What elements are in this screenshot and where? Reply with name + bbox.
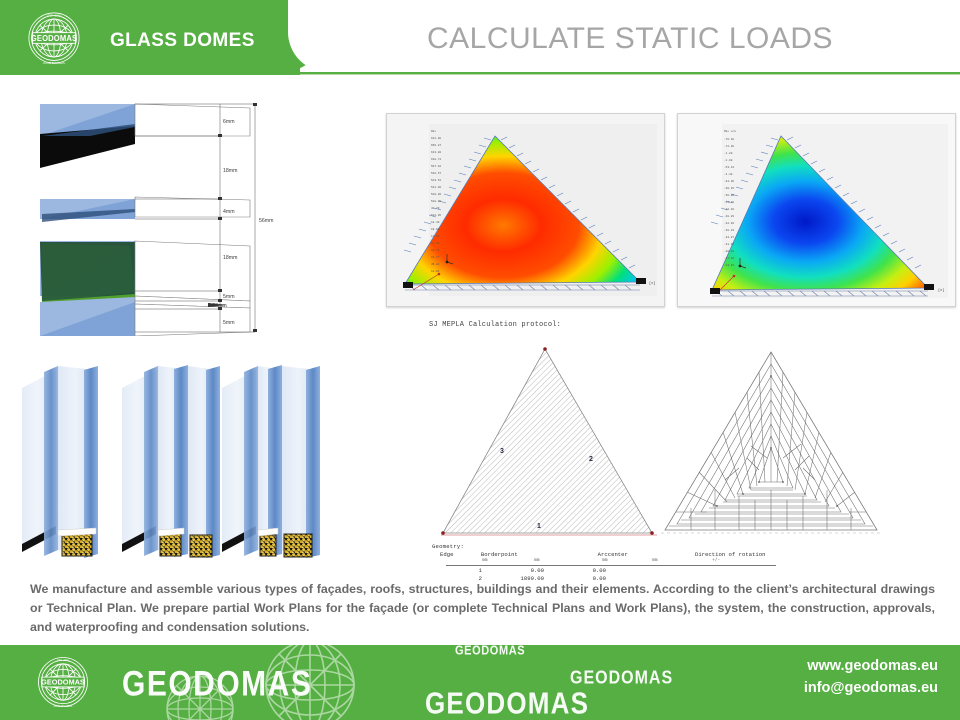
svg-text:11.09: 11.09 <box>431 235 440 238</box>
unit-mm-2: mm <box>534 558 602 564</box>
col-edge: Edge <box>440 551 481 559</box>
svg-text:45.84: 45.84 <box>431 263 440 266</box>
svg-text:-28.48: -28.48 <box>724 250 734 253</box>
svg-text:0.38mm: 0.38mm <box>208 303 227 309</box>
svg-text:-27.16: -27.16 <box>724 257 734 260</box>
svg-text:· EST · 2014 ·: · EST · 2014 · <box>46 14 62 18</box>
geodomas-seal-logo: GEODOMAS · EST · 2014 · · DOME BUILDERS … <box>16 9 92 67</box>
svg-text:11.04: 11.04 <box>431 270 440 273</box>
stress-contour-triangular-panel: Max 101.98656.87 613.80618.74 567.62532.… <box>386 113 665 307</box>
svg-text:-1.29: -1.29 <box>724 152 733 155</box>
glass-unit-double <box>22 366 98 558</box>
body-paragraph: We manufacture and assemble various type… <box>30 580 935 638</box>
unit-mm-4: mm <box>652 558 712 564</box>
row1-bp-y: 0.00 <box>544 567 606 575</box>
svg-text:Max: Max <box>431 130 436 133</box>
svg-text:618.74: 618.74 <box>431 158 441 161</box>
svg-text:16.77: 16.77 <box>431 256 440 259</box>
svg-text:656.87: 656.87 <box>431 144 441 147</box>
unit-mm-3: mm <box>602 558 652 564</box>
svg-text:· EST · 2014 ·: · EST · 2014 · <box>56 660 70 662</box>
svg-text:-38.23: -38.23 <box>724 229 734 232</box>
svg-text:613.80: 613.80 <box>431 151 441 154</box>
svg-text:513.51: 513.51 <box>431 179 441 182</box>
seal-logo-text: GEODOMAS <box>31 34 77 43</box>
svg-text:41.79: 41.79 <box>431 207 440 210</box>
glass-unit-triple <box>122 365 220 558</box>
svg-text:[x]: [x] <box>938 288 944 293</box>
svg-text:4mm: 4mm <box>223 209 235 215</box>
svg-text:612.05: 612.05 <box>431 214 441 217</box>
footer-email-link[interactable]: info@geodomas.eu <box>804 678 938 700</box>
svg-text:1: 1 <box>537 523 541 530</box>
svg-text:2: 2 <box>589 456 593 463</box>
svg-text:3: 3 <box>500 448 504 455</box>
svg-text:Max u/m: Max u/m <box>724 129 736 133</box>
sign-label: +/- <box>712 558 720 564</box>
slide-root: GEODOMAS · EST · 2014 · · DOME BUILDERS … <box>0 0 960 720</box>
svg-text:· DOME BUILDERS ·: · DOME BUILDERS · <box>42 61 67 65</box>
footer-watermark-1: GEODOMAS <box>455 644 525 658</box>
col-borderpoint: Borderpoint <box>481 551 598 559</box>
svg-text:-2.48: -2.48 <box>724 173 733 176</box>
deflection-contour-triangular-panel: Max u/m -76.48-72.88 -1.29-1.98 -53.44-2… <box>677 113 956 307</box>
svg-text:5mm: 5mm <box>223 320 235 326</box>
svg-text:19.98: 19.98 <box>431 228 440 231</box>
mepla-geometry-triangle: 1 2 3 <box>437 337 669 542</box>
finite-element-mesh-triangle <box>655 340 887 540</box>
svg-text:18mm: 18mm <box>223 168 237 174</box>
footer-watermark-3: GEODOMAS <box>425 685 589 720</box>
geometry-table-header: Edge Borderpoint Arccenter Direction of … <box>432 551 802 559</box>
svg-text:5mm: 5mm <box>223 294 235 300</box>
geometry-table: Geometry: Edge Borderpoint Arccenter Dir… <box>432 543 802 582</box>
col-arccenter: Arccenter <box>598 551 695 559</box>
svg-text:18mm: 18mm <box>223 255 237 261</box>
svg-text:532.57: 532.57 <box>431 172 441 175</box>
col-direction: Direction of rotation <box>695 551 802 559</box>
svg-text:567.62: 567.62 <box>431 165 441 168</box>
svg-text:-56.80: -56.80 <box>724 194 734 197</box>
svg-text:-48.29: -48.29 <box>724 215 734 218</box>
header-divider-thin <box>300 74 960 75</box>
glass-laminate-section-detail: 6mm 18mm 4mm 18mm 5mm 0.38mm 5mm 56mm <box>30 96 330 336</box>
svg-text:6mm: 6mm <box>223 119 235 125</box>
row1-edge: 1 <box>440 567 482 575</box>
footer-seal-text: GEODOMAS <box>41 678 85 687</box>
insulated-glass-unit-illustrations <box>22 358 327 563</box>
svg-text:-41.40: -41.40 <box>724 208 734 211</box>
unit-mm-1: mm <box>482 558 534 564</box>
svg-text:510.80: 510.80 <box>431 193 441 196</box>
slide-header: GEODOMAS · EST · 2014 · · DOME BUILDERS … <box>0 0 960 76</box>
svg-text:101.98: 101.98 <box>431 137 441 140</box>
geodomas-seal-logo-footer: GEODOMAS · EST · 2014 · · DOME BUILDERS … <box>28 653 98 711</box>
mepla-protocol-label: SJ MEPLA Calculation protocol: <box>429 321 561 329</box>
svg-text:56mm: 56mm <box>259 218 273 224</box>
svg-text:-76.48: -76.48 <box>724 138 734 141</box>
geometry-table-title: Geometry: <box>432 543 802 551</box>
footer-wordmark: GEODOMAS <box>122 665 312 705</box>
svg-text:-64.86: -64.86 <box>724 180 734 183</box>
svg-text:-32.92: -32.92 <box>724 222 734 225</box>
svg-text:-13.63: -13.63 <box>724 264 734 267</box>
glass-unit-triple-uneven <box>222 365 320 558</box>
svg-text:11.20: 11.20 <box>431 242 440 245</box>
table-row: 1 0.00 0.00 <box>432 567 802 575</box>
svg-text:-53.44: -53.44 <box>724 166 734 169</box>
svg-text:-1.98: -1.98 <box>724 159 733 162</box>
svg-text:-72.88: -72.88 <box>724 145 734 148</box>
svg-text:-34.87: -34.87 <box>724 236 734 239</box>
row1-bp-x: 0.00 <box>482 567 544 575</box>
svg-text:518.86: 518.86 <box>431 200 441 203</box>
svg-text:· DOME BUILDERS ·: · DOME BUILDERS · <box>52 706 73 708</box>
svg-text:-60.25: -60.25 <box>724 187 734 190</box>
svg-text:511.30: 511.30 <box>431 186 441 189</box>
detail-lower-pane <box>40 241 250 336</box>
footer-website-link[interactable]: www.geodomas.eu <box>804 656 938 678</box>
footer-contact-block: www.geodomas.eu info@geodomas.eu <box>804 656 938 700</box>
header-brand-label: GLASS DOMES <box>110 30 255 52</box>
svg-text:-53.32: -53.32 <box>724 201 734 204</box>
page-title: CALCULATE STATIC LOADS <box>330 22 930 56</box>
svg-text:18.48: 18.48 <box>431 221 440 224</box>
svg-text:-31.67: -31.67 <box>724 243 734 246</box>
geometry-table-units: mm mm mm mm +/- <box>432 558 802 564</box>
geometry-table-rule <box>446 565 776 566</box>
svg-text:16.70: 16.70 <box>431 249 440 252</box>
svg-text:[x]: [x] <box>649 281 655 286</box>
